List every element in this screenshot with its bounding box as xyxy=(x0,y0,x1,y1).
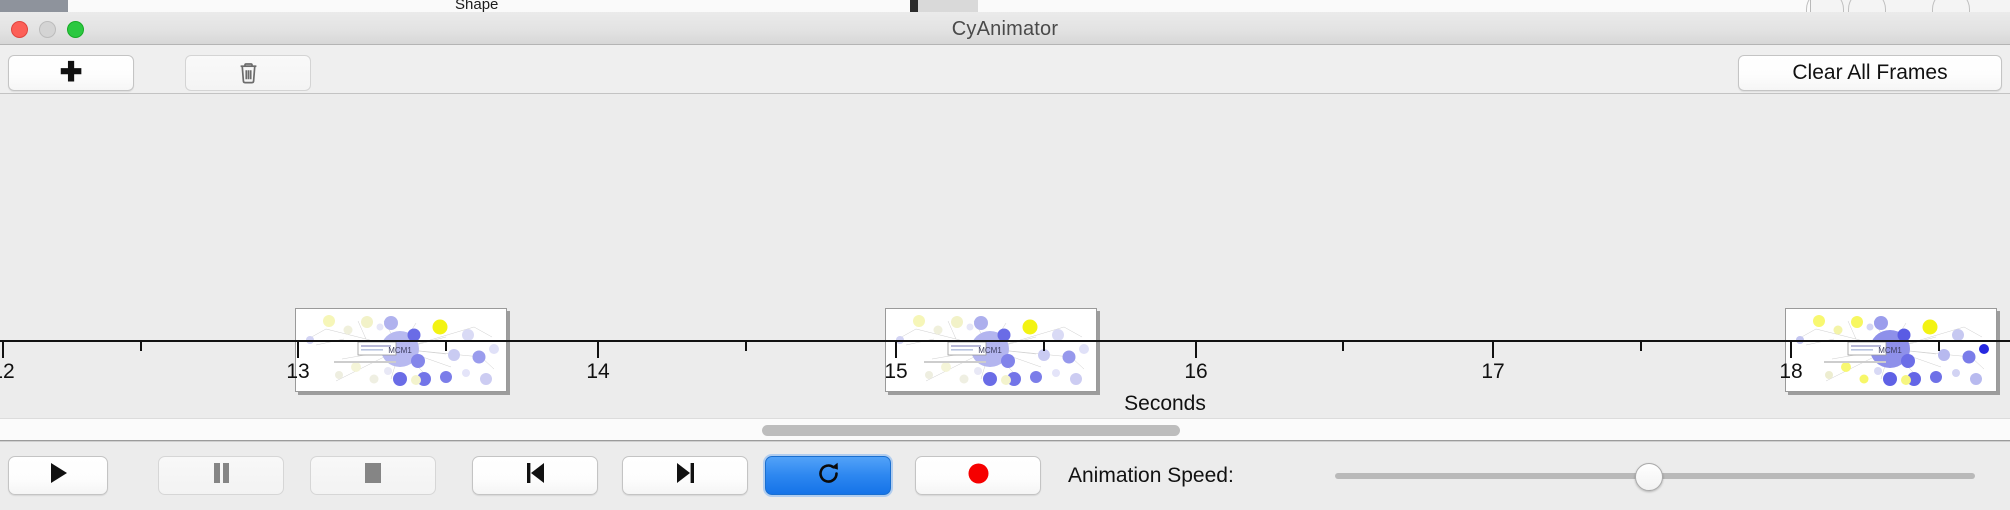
axis-tick-major xyxy=(297,342,299,358)
axis-tick-minor xyxy=(1043,342,1045,351)
axis-tick-label: 16 xyxy=(1184,360,1207,384)
axis-tick-minor xyxy=(445,342,447,351)
next-frame-button[interactable] xyxy=(622,456,748,495)
axis-tick-major xyxy=(1790,342,1792,358)
plus-icon: ✚ xyxy=(60,59,83,86)
axis-tick-label: 15 xyxy=(884,360,907,384)
clear-all-frames-label: Clear All Frames xyxy=(1792,61,1947,85)
axis-tick-minor xyxy=(1938,342,1940,351)
animation-speed-slider-thumb[interactable] xyxy=(1635,463,1663,491)
axis-tick-major xyxy=(1492,342,1494,358)
add-frame-button[interactable]: ✚ xyxy=(8,55,134,91)
axis-tick-minor xyxy=(1640,342,1642,351)
skip-next-icon xyxy=(675,462,696,489)
timeline-scrollbar-thumb[interactable] xyxy=(762,425,1180,436)
play-button[interactable] xyxy=(8,456,108,495)
axis-tick-label: 18 xyxy=(1779,360,1802,384)
timeline-axis xyxy=(0,340,2010,342)
axis-tick-label: 12 xyxy=(0,360,15,384)
svg-text:MCM1: MCM1 xyxy=(388,346,412,355)
loop-button[interactable] xyxy=(765,456,891,495)
pause-button[interactable] xyxy=(158,456,284,495)
axis-tick-minor xyxy=(745,342,747,351)
trash-icon xyxy=(238,61,259,85)
timeline-panel[interactable]: MCM1 xyxy=(0,94,2010,418)
cyanimator-window: Shape CyAnimator ✚ Clear All xyxy=(0,0,2010,510)
keyframe-thumbnail[interactable]: MCM1 xyxy=(295,308,507,392)
axis-tick-label: 17 xyxy=(1481,360,1504,384)
record-button[interactable] xyxy=(915,456,1041,495)
pause-icon xyxy=(212,462,231,489)
frame-toolbar: ✚ Clear All Frames xyxy=(0,45,2010,94)
keyframe-thumbnail[interactable]: MCM1 xyxy=(885,308,1097,392)
keyframe-thumbnail[interactable]: MCM1 xyxy=(1785,308,1997,392)
clear-all-frames-button[interactable]: Clear All Frames xyxy=(1738,55,2002,91)
skip-previous-icon xyxy=(525,462,546,489)
axis-tick-minor xyxy=(140,342,142,351)
axis-title: Seconds xyxy=(1124,392,1206,416)
axis-tick-major xyxy=(2,342,4,358)
axis-tick-major xyxy=(1195,342,1197,358)
svg-text:MCM1: MCM1 xyxy=(978,346,1002,355)
axis-tick-minor xyxy=(1342,342,1344,351)
stop-button[interactable] xyxy=(310,456,436,495)
axis-tick-label: 14 xyxy=(586,360,609,384)
previous-frame-button[interactable] xyxy=(472,456,598,495)
record-icon xyxy=(967,462,990,490)
loop-icon xyxy=(816,461,841,491)
axis-tick-label: 13 xyxy=(286,360,309,384)
timeline-scrollbar[interactable] xyxy=(0,418,2010,441)
title-bar: CyAnimator xyxy=(0,12,2010,45)
svg-text:MCM1: MCM1 xyxy=(1878,346,1902,355)
animation-speed-label: Animation Speed: xyxy=(1068,464,1234,488)
play-icon xyxy=(49,462,68,489)
playback-controls: Animation Speed: xyxy=(0,441,2010,510)
stop-icon xyxy=(363,462,383,489)
delete-frame-button[interactable] xyxy=(185,55,311,91)
window-title: CyAnimator xyxy=(0,18,2010,41)
axis-tick-major xyxy=(895,342,897,358)
axis-tick-major xyxy=(597,342,599,358)
timeline-track[interactable]: MCM1 xyxy=(0,94,2010,418)
